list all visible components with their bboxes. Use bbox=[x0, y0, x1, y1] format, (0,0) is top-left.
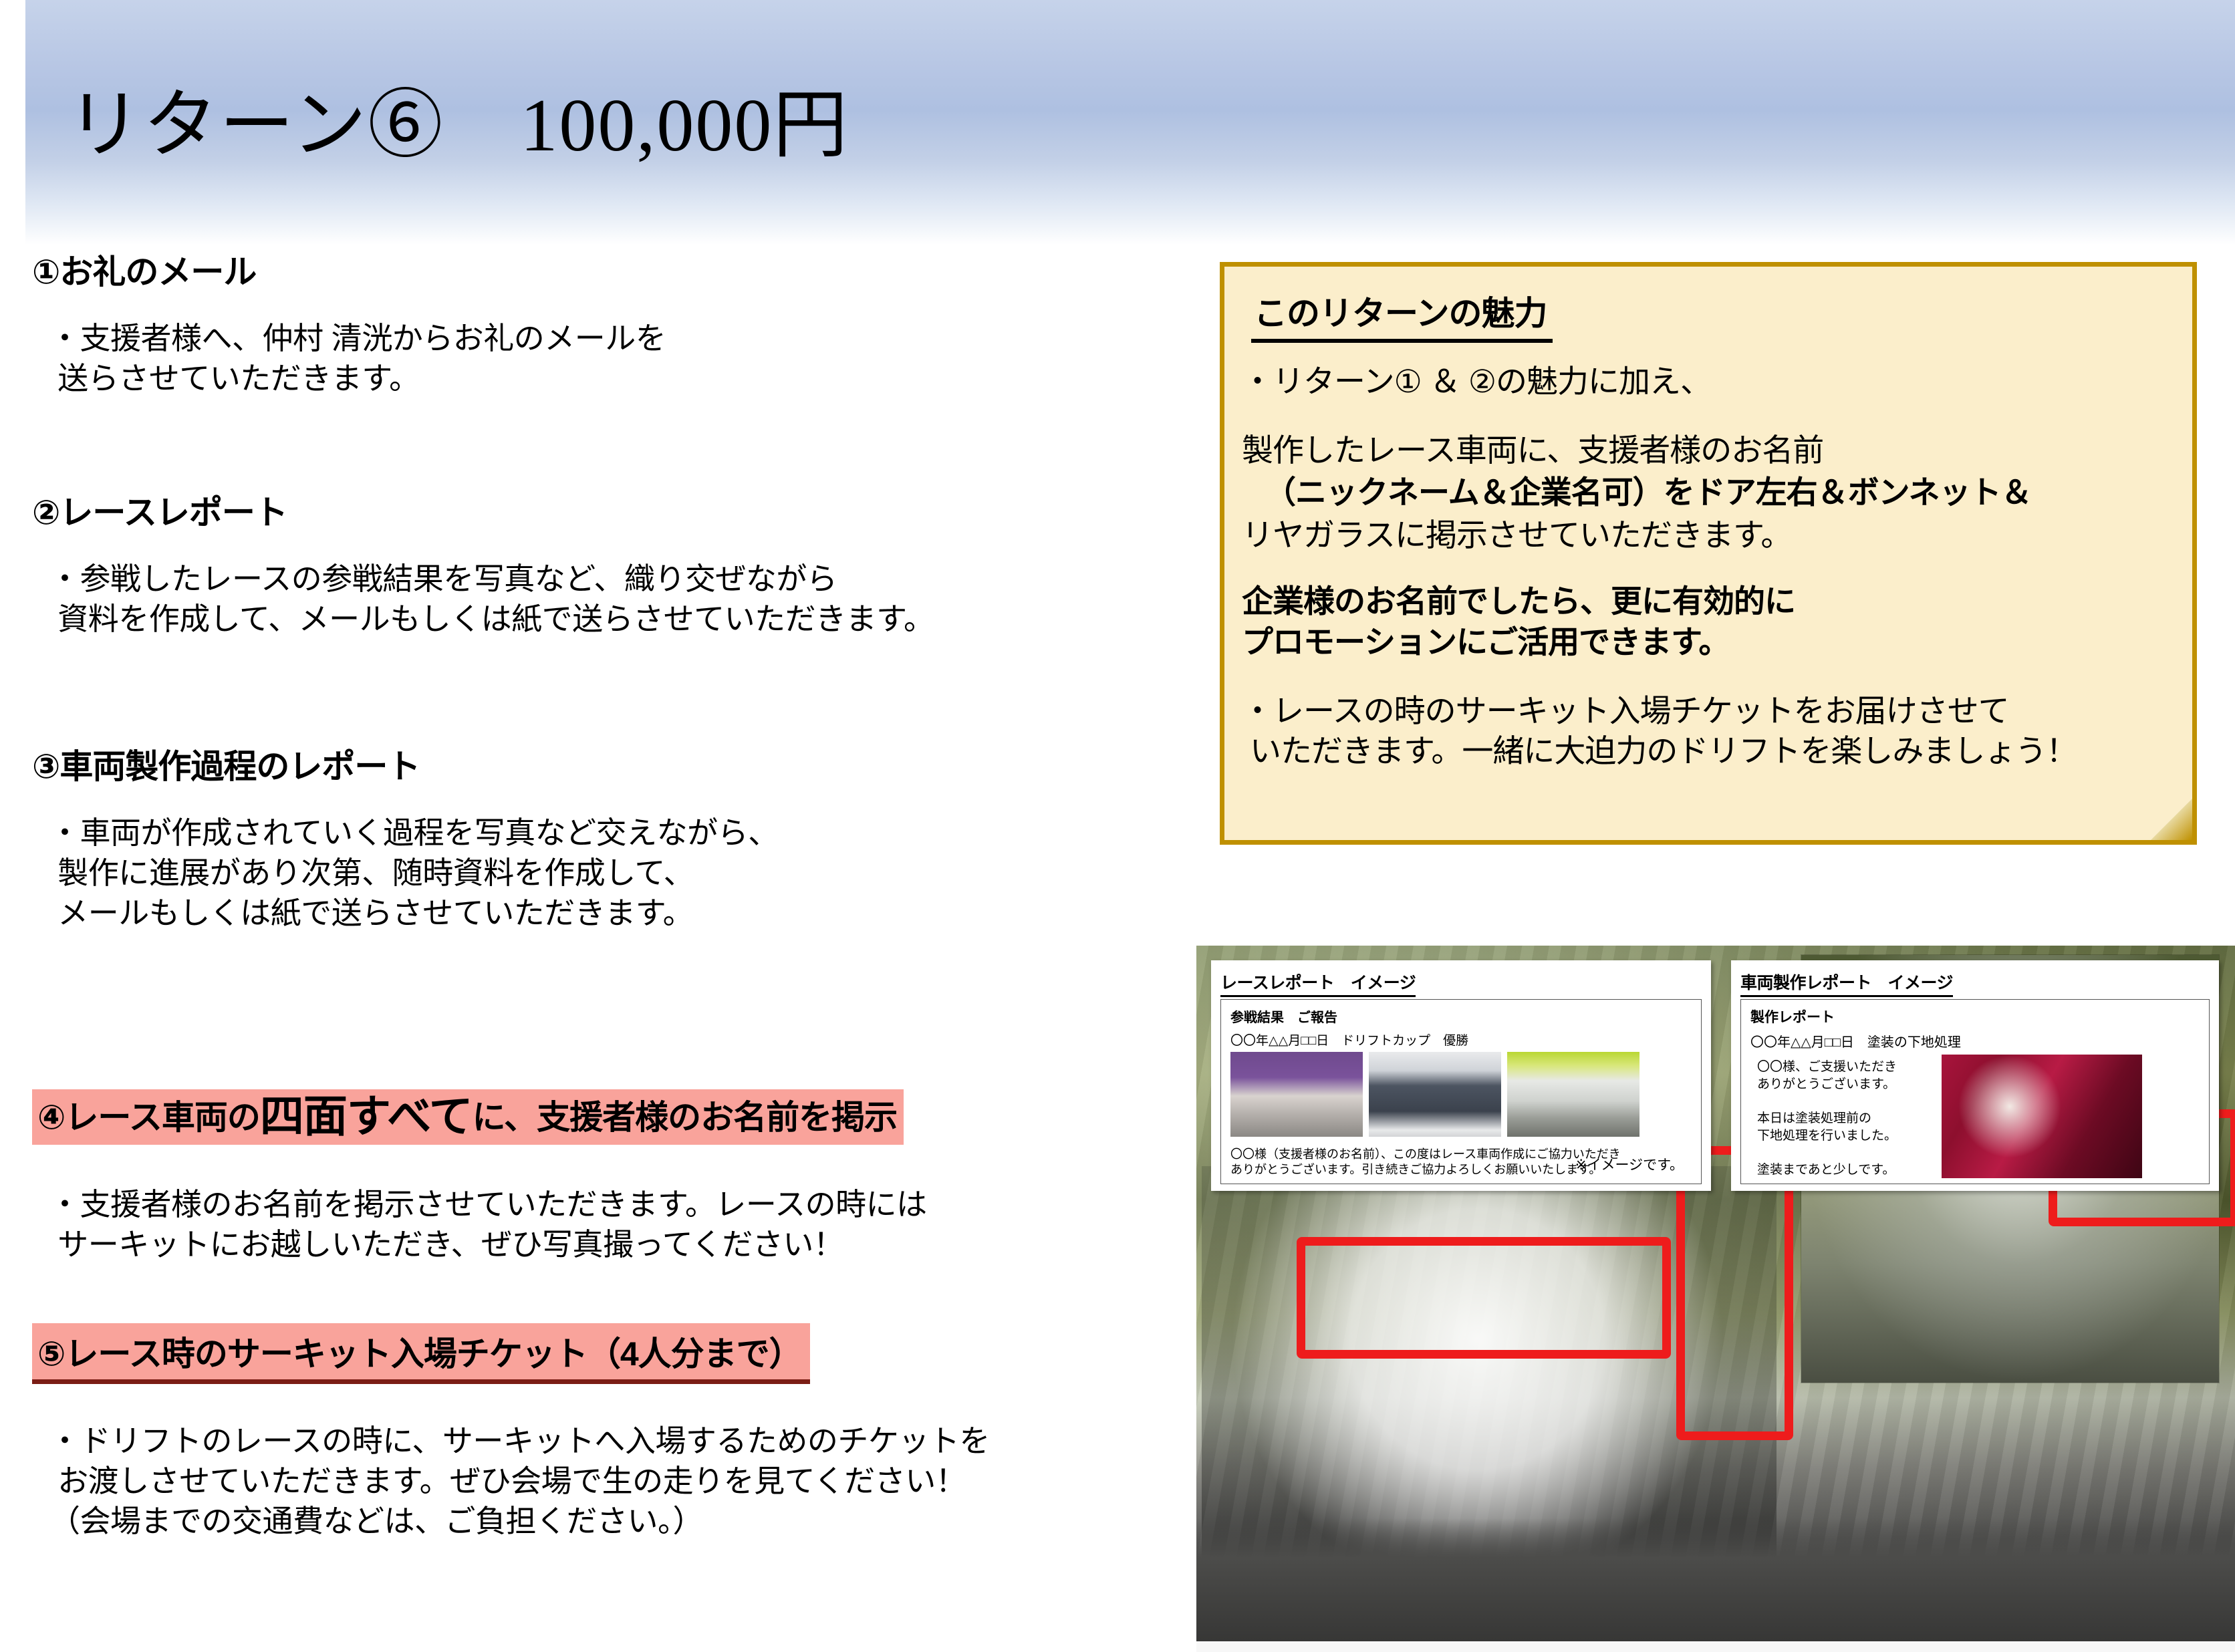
callout-content: このリターンの魅力 ・リターン① ＆ ②の魅力に加え、 製作したレース車両に、支… bbox=[1224, 267, 2192, 771]
return-benefits-callout: このリターンの魅力 ・リターン① ＆ ②の魅力に加え、 製作したレース車両に、支… bbox=[1220, 262, 2197, 845]
race-report-card-inner: 参戦結果 ご報告 〇〇年△△月□□日 ドリフトカップ 優勝 〇〇様（支援者様のお… bbox=[1220, 999, 1702, 1184]
photo-composite: レースレポート イメージ 参戦結果 ご報告 〇〇年△△月□□日 ドリフトカップ … bbox=[1196, 946, 2235, 1652]
build-report-card-inner: 製作レポート 〇〇年△△月□□日 塗装の下地処理 〇〇様、ご支援いただき ありが… bbox=[1740, 999, 2210, 1184]
section-4-heading-part2: に、支援者様のお名前を掲示 bbox=[473, 1099, 898, 1136]
build-report-body: 〇〇様、ご支援いただき ありがとうございます。 本日は塗装処理前の 下地処理を行… bbox=[1757, 1059, 1897, 1178]
section-1: ①お礼のメール ・支援者様へ、仲村 清洸からお礼のメールを 送らさせていただきま… bbox=[32, 254, 666, 399]
callout-paragraph-3-line1: 企業様のお名前でしたら、更に有効的に bbox=[1242, 581, 2175, 621]
highlight-box-bonnet bbox=[1297, 1237, 1671, 1359]
page-title: リターン⑥ 100,000円 bbox=[67, 64, 849, 172]
section-3-heading: ③車両製作過程のレポート bbox=[32, 748, 779, 785]
road-surface bbox=[1196, 1518, 2235, 1652]
build-report-card: 車両製作レポート イメージ 製作レポート 〇〇年△△月□□日 塗装の下地処理 〇… bbox=[1731, 960, 2219, 1191]
section-2: ②レースレポート ・参戦したレースの参戦結果を写真など、織り交ぜながら 資料を作… bbox=[32, 495, 934, 640]
callout-title: このリターンの魅力 bbox=[1251, 287, 1553, 343]
section-4-body: ・支援者様のお名前を掲示させていただきます。レースの時には サーキットにお越しい… bbox=[49, 1185, 927, 1265]
section-5-heading-wrap: ⑤レース時のサーキット入場チケット（4人分まで） bbox=[32, 1323, 990, 1384]
section-4: ④レース車両の四面すべてに、支援者様のお名前を掲示 ・支援者様のお名前を掲示させ… bbox=[32, 1089, 927, 1265]
section-2-heading: ②レースレポート bbox=[32, 495, 934, 531]
header-banner: リターン⑥ 100,000円 bbox=[25, 0, 2235, 245]
callout-paragraph-2-line2: （ニックネーム＆企業名可）をドア左右＆ボンネット＆ bbox=[1265, 472, 2175, 512]
section-3: ③車両製作過程のレポート ・車両が作成されていく過程を写真など交えながら、 製作… bbox=[32, 748, 779, 933]
callout-paragraph-2-line1: 製作したレース車両に、支援者様のお名前 bbox=[1242, 430, 2175, 470]
folded-corner-icon bbox=[2146, 794, 2197, 845]
race-report-card-title: レースレポート イメージ bbox=[1220, 970, 1416, 997]
callout-paragraph-3-line2: プロモーションにご活用できます。 bbox=[1242, 622, 2175, 662]
build-report-line2: 〇〇年△△月□□日 塗装の下地処理 bbox=[1750, 1031, 2209, 1051]
photo-bottom-strip bbox=[1196, 1641, 2235, 1652]
section-5-body: ・ドリフトのレースの時に、サーキットへ入場するためのチケットを お渡しさせていた… bbox=[49, 1421, 990, 1541]
section-4-heading-part1: ④レース車両の bbox=[37, 1099, 260, 1136]
section-1-heading: ①お礼のメール bbox=[32, 254, 666, 291]
build-report-line1: 製作レポート bbox=[1750, 1006, 2209, 1026]
section-1-body: ・支援者様へ、仲村 清洸からお礼のメールを 送らさせていただきます。 bbox=[49, 319, 666, 399]
build-report-card-title: 車両製作レポート イメージ bbox=[1740, 970, 1953, 997]
race-report-note: ※イメージです。 bbox=[1575, 1154, 1684, 1174]
race-report-line1: 参戦結果 ご報告 bbox=[1230, 1006, 1701, 1026]
section-2-body: ・参戦したレースの参戦結果を写真など、織り交ぜながら 資料を作成して、メールもし… bbox=[49, 559, 934, 640]
section-4-heading: ④レース車両の四面すべてに、支援者様のお名前を掲示 bbox=[32, 1089, 927, 1145]
section-5-heading: ⑤レース時のサーキット入場チケット（4人分まで） bbox=[32, 1323, 810, 1384]
callout-paragraph-2-line3: リヤガラスに掲示させていただきます。 bbox=[1242, 515, 2175, 555]
podium-photo bbox=[1230, 1052, 1363, 1137]
section-4-heading-emphasis: 四面すべて bbox=[260, 1091, 473, 1141]
paddock-car-photo bbox=[1507, 1052, 1639, 1137]
section-3-body: ・車両が作成されていく過程を写真など交えながら、 製作に進展があり次第、随時資料… bbox=[49, 813, 779, 933]
section-5: ⑤レース時のサーキット入場チケット（4人分まで） ・ドリフトのレースの時に、サー… bbox=[32, 1323, 990, 1541]
race-report-line2: 〇〇年△△月□□日 ドリフトカップ 優勝 bbox=[1230, 1030, 1701, 1049]
sanding-photo bbox=[1942, 1055, 2142, 1178]
callout-paragraph-1: ・リターン① ＆ ②の魅力に加え、 bbox=[1242, 362, 2175, 401]
windshield-photo bbox=[1369, 1052, 1501, 1137]
callout-paragraph-4: ・レースの時のサーキット入場チケットをお届けさせて いただきます。一緒に大迫力の… bbox=[1242, 691, 2175, 770]
race-report-card: レースレポート イメージ 参戦結果 ご報告 〇〇年△△月□□日 ドリフトカップ … bbox=[1211, 960, 1711, 1191]
race-report-thumbnails bbox=[1230, 1052, 1639, 1137]
